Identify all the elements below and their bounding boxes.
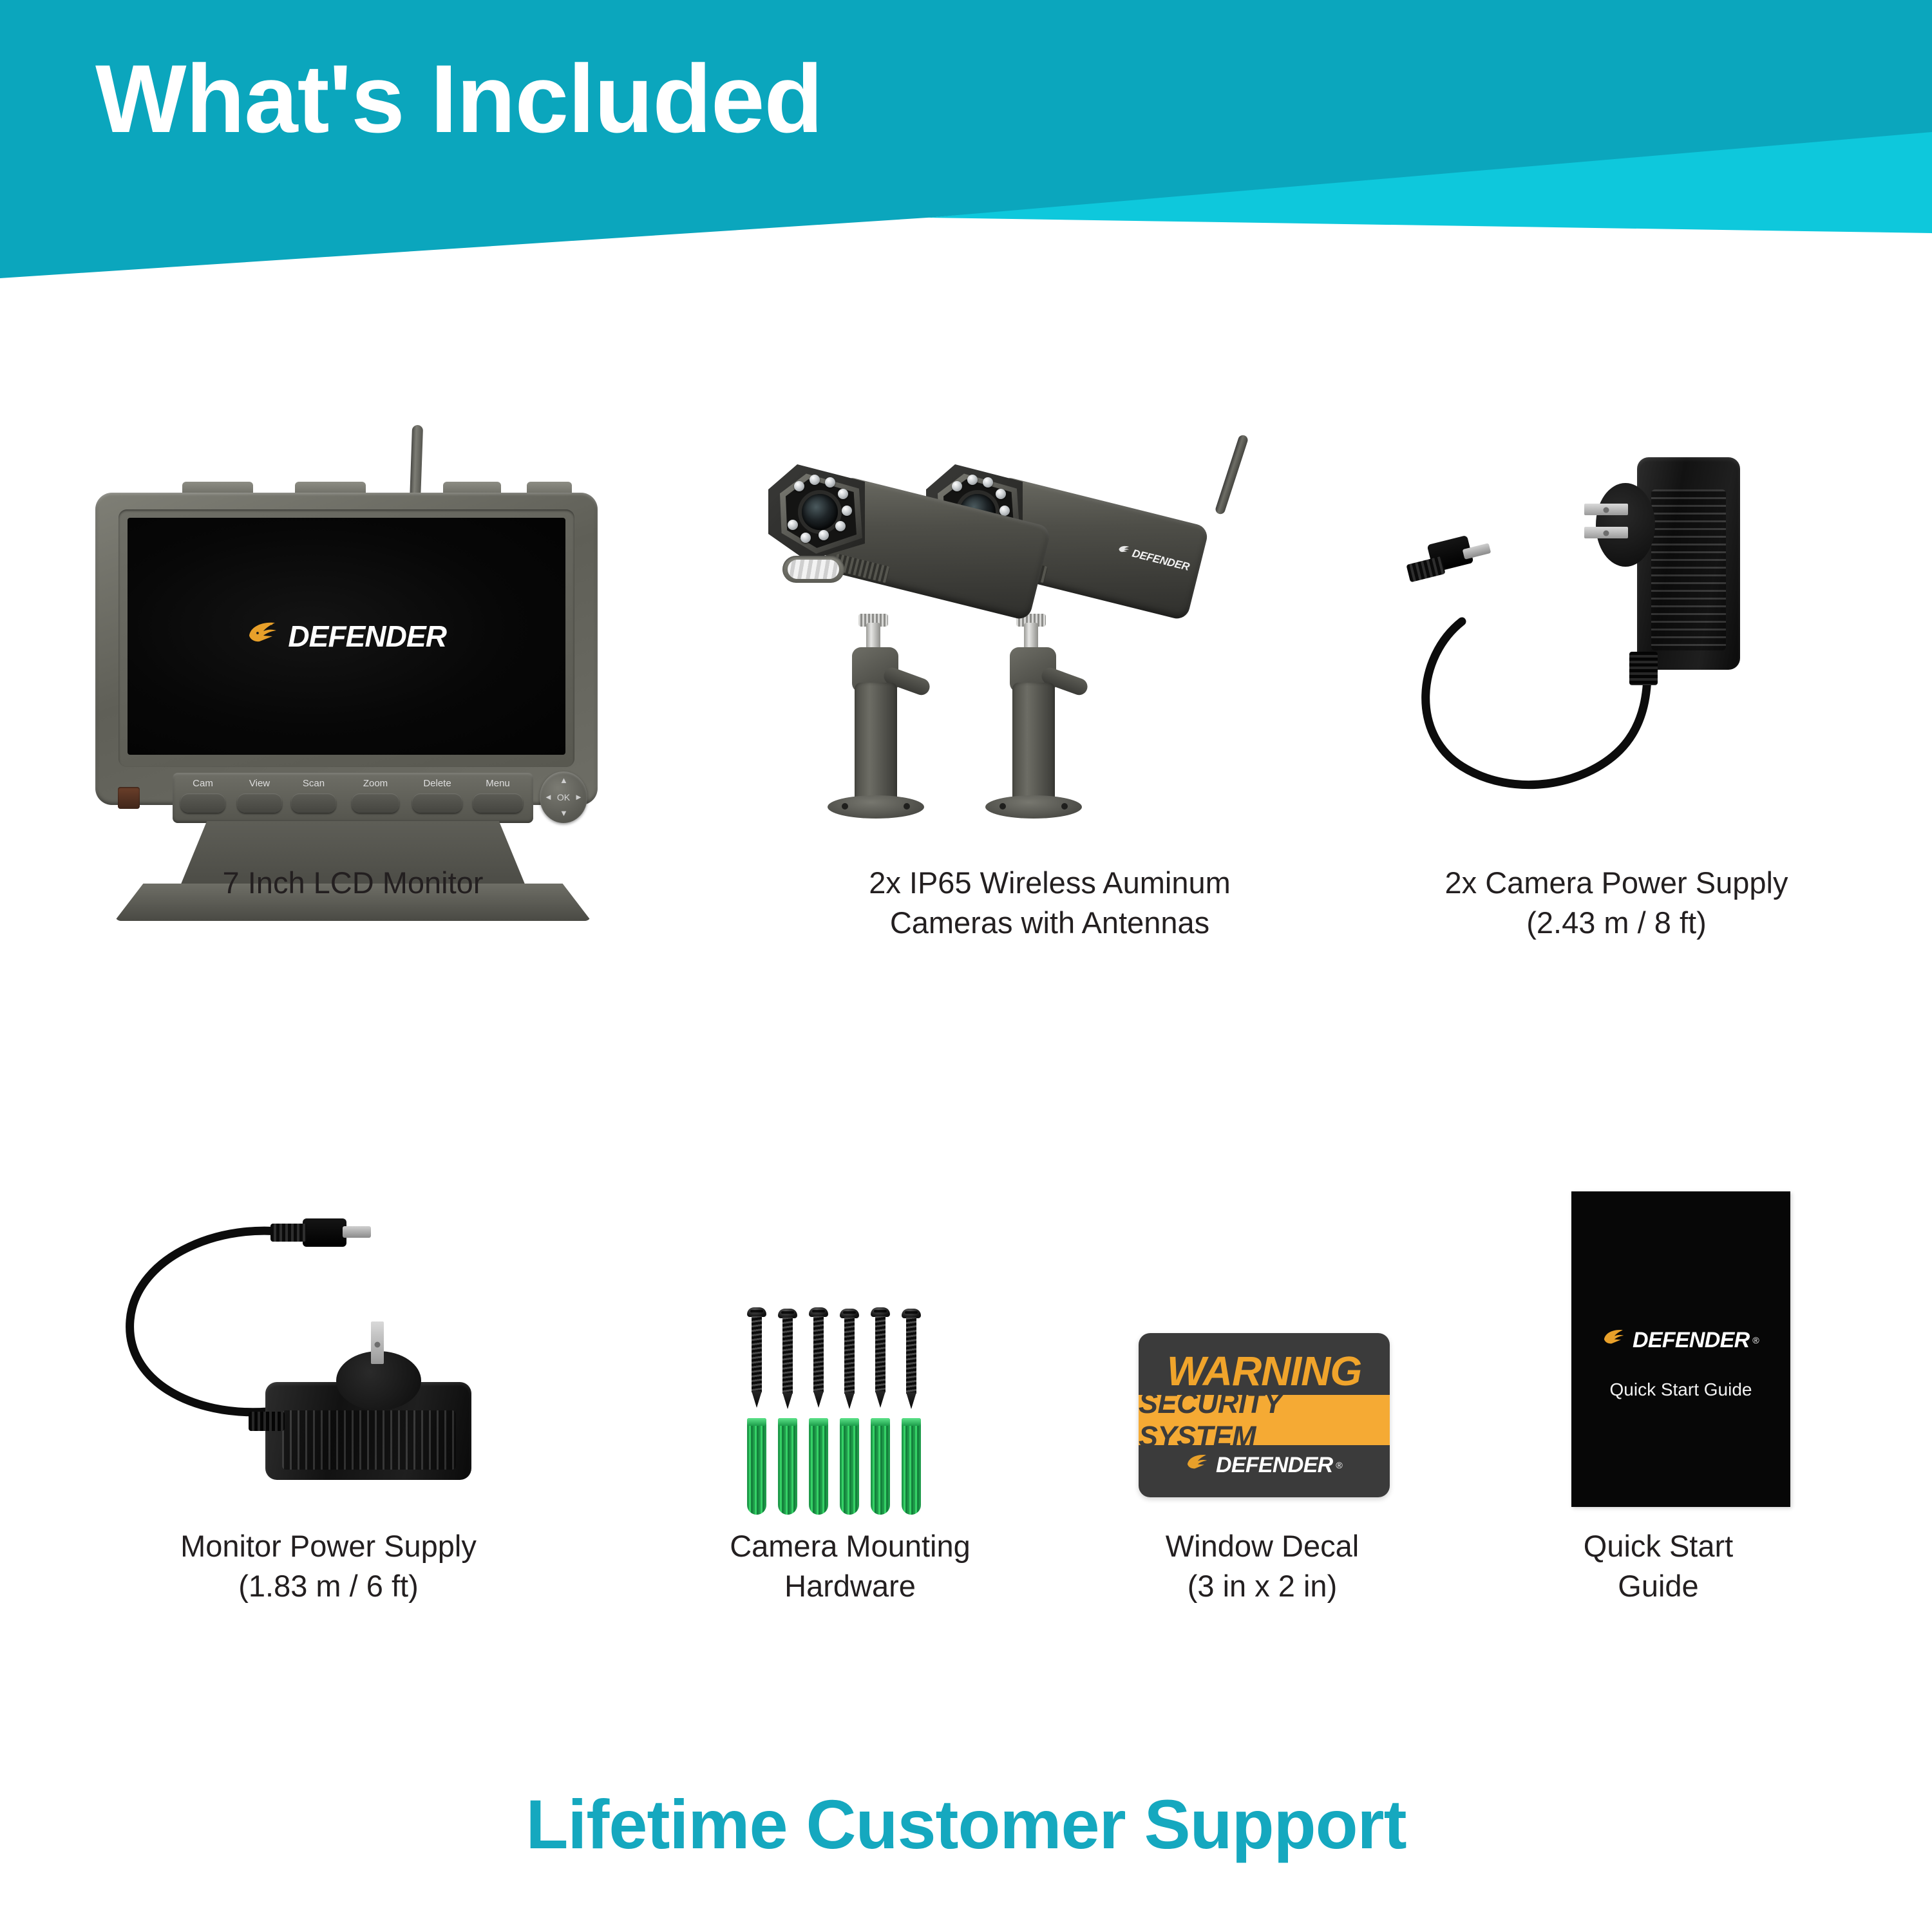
monitor-button-label-cam: Cam (178, 778, 228, 789)
qsg-title-text: Quick Start Guide (1571, 1379, 1790, 1400)
caption-line-1: 2x Camera Power Supply (1391, 863, 1842, 903)
lcd-monitor-graphic: DEFENDER DEFENDER ® (82, 425, 623, 934)
item-quick-start-guide: DEFENDER ® Quick Start Guide Quick Start… (1488, 1204, 1829, 1591)
caption-lcd-monitor: 7 Inch LCD Monitor (82, 863, 623, 903)
infographic-page: What's Included (0, 0, 1932, 1932)
caption-line-1: Camera Mounting (657, 1526, 1043, 1566)
caption-line-1: Window Decal (1095, 1526, 1430, 1566)
qsg-brand-row: DEFENDER ® (1571, 1328, 1790, 1353)
item-window-decal: WARNING SECURITY SYSTEM DEFENDER ® Windo… (1095, 1204, 1430, 1591)
plug-prong (1584, 504, 1628, 515)
chevron-right-icon[interactable]: ► (574, 793, 583, 801)
monitor-button-label-view: View (234, 778, 285, 789)
monitor-button-label-delete: Delete (410, 778, 465, 789)
eagle-icon (1116, 544, 1132, 559)
ir-led-icon (825, 477, 835, 488)
window-decal-graphic: WARNING SECURITY SYSTEM DEFENDER ® (1139, 1333, 1390, 1497)
header-banner: What's Included (0, 0, 1932, 303)
monitor-button-zoom[interactable] (352, 793, 399, 813)
wall-anchor-icon (778, 1418, 797, 1515)
camera-mount-arm (855, 683, 897, 805)
qsg-brand-text: DEFENDER (1633, 1328, 1750, 1353)
caption-quick-start-guide: Quick Start Guide (1488, 1526, 1829, 1606)
wall-anchor-icon (840, 1418, 859, 1515)
ir-led-icon (842, 506, 852, 516)
item-wireless-cameras: DEFENDER (728, 425, 1372, 934)
decal-brand-row: DEFENDER ® (1139, 1453, 1390, 1478)
decal-security-system-text: SECURITY SYSTEM (1139, 1387, 1390, 1454)
registered-mark: ® (1752, 1336, 1759, 1346)
item-camera-power-supply: 2x Camera Power Supply (2.43 m / 8 ft) (1391, 425, 1842, 934)
monitor-ok-button[interactable]: OK (557, 792, 570, 802)
item-lcd-monitor: DEFENDER DEFENDER ® (82, 425, 623, 934)
caption-line-2: (1.83 m / 6 ft) (116, 1566, 541, 1606)
caption-wireless-cameras: 2x IP65 Wireless Auminum Cameras with An… (728, 863, 1372, 943)
wall-anchor-icon (747, 1418, 766, 1515)
camera-mount-hole (842, 803, 848, 810)
monitor-button-label-scan: Scan (289, 778, 339, 789)
monitor-button-cam[interactable] (180, 793, 225, 813)
caption-line-2: Hardware (657, 1566, 1043, 1606)
monitor-bezel: DEFENDER (118, 509, 574, 767)
plug-prong (371, 1321, 384, 1364)
eagle-icon (247, 619, 284, 654)
caption-line-1: Quick Start (1488, 1526, 1829, 1566)
caption-window-decal: Window Decal (3 in x 2 in) (1095, 1526, 1430, 1606)
caption-line-2: (2.43 m / 8 ft) (1391, 903, 1842, 943)
monitor-power-supply-graphic (116, 1204, 541, 1494)
camera-mount-hole (904, 803, 910, 810)
caption-camera-power-supply: 2x Camera Power Supply (2.43 m / 8 ft) (1391, 863, 1842, 943)
monitor-button-view[interactable] (237, 793, 282, 813)
dc-connector-tip (343, 1226, 371, 1238)
caption-monitor-power-supply: Monitor Power Supply (1.83 m / 6 ft) (116, 1526, 541, 1606)
camera-mount-hole (999, 803, 1006, 810)
camera-power-supply-graphic (1391, 464, 1842, 824)
qsg-defender-logo: DEFENDER ® (1602, 1328, 1759, 1353)
camera-mount-arm (1012, 683, 1055, 805)
monitor-ir-sensor (118, 787, 140, 809)
ir-led-icon (819, 530, 829, 540)
monitor-button-scan[interactable] (291, 793, 336, 813)
ir-led-icon (983, 477, 993, 488)
dc-connector-grip (270, 1224, 307, 1242)
decal-accent-band: SECURITY SYSTEM (1139, 1395, 1390, 1445)
monitor-body: DEFENDER DEFENDER ® (95, 493, 598, 805)
monitor-control-bar: Cam View Scan Zoom Delete Menu (173, 773, 533, 823)
ir-led-icon (800, 533, 811, 543)
chevron-up-icon[interactable]: ▲ (560, 776, 568, 784)
item-monitor-power-supply: Monitor Power Supply (1.83 m / 6 ft) (116, 1204, 541, 1591)
caption-mounting-hardware: Camera Mounting Hardware (657, 1526, 1043, 1606)
caption-line-1: 2x IP65 Wireless Auminum (728, 863, 1372, 903)
ir-led-icon (952, 481, 962, 491)
ir-led-icon (838, 489, 848, 499)
camera-brand-logo: DEFENDER (1116, 544, 1191, 574)
monitor-button-label-zoom: Zoom (349, 778, 402, 789)
caption-line-1: 7 Inch LCD Monitor (82, 863, 623, 903)
caption-line-1: Monitor Power Supply (116, 1526, 541, 1566)
monitor-screen[interactable]: DEFENDER (128, 518, 565, 755)
power-adapter-strain-relief (249, 1412, 285, 1431)
decal-defender-logo: DEFENDER ® (1186, 1453, 1343, 1478)
plug-base (1596, 483, 1655, 567)
item-mounting-hardware: Camera Mounting Hardware (657, 1204, 1043, 1591)
wall-anchor-icon (809, 1418, 828, 1515)
power-adapter-ribs (282, 1410, 456, 1470)
power-adapter-strain-relief (1629, 652, 1658, 685)
registered-mark: ® (1336, 1461, 1343, 1471)
ir-led-icon (996, 489, 1006, 499)
footer-tagline: Lifetime Customer Support (0, 1784, 1932, 1864)
eagle-icon (1186, 1453, 1213, 1478)
monitor-button-label-menu: Menu (470, 778, 526, 789)
dc-connector-body (303, 1218, 346, 1247)
plug-prong (1584, 527, 1628, 538)
monitor-screen-defender-logo: DEFENDER (247, 619, 446, 654)
ir-led-icon (788, 520, 798, 530)
camera-antenna-icon (1215, 434, 1249, 515)
page-title: What's Included (95, 50, 822, 147)
monitor-screen-brand-text: DEFENDER (288, 619, 446, 654)
caption-line-2: Cameras with Antennas (728, 903, 1372, 943)
ir-led-icon (810, 475, 820, 485)
ir-led-icon (967, 475, 978, 485)
monitor-antenna-icon (410, 425, 423, 503)
camera-mount-hole (1061, 803, 1068, 810)
monitor-button-delete[interactable] (412, 793, 462, 813)
eagle-icon (1602, 1328, 1629, 1353)
wall-anchor-icon (902, 1418, 921, 1515)
wall-anchor-icon (871, 1418, 890, 1515)
camera-motion-sensor-window (782, 556, 844, 583)
ir-led-icon (794, 481, 804, 491)
monitor-navigation-pad[interactable]: ▲ ▼ ◄ ► OK (540, 772, 587, 823)
chevron-down-icon[interactable]: ▼ (560, 809, 568, 817)
caption-line-2: (3 in x 2 in) (1095, 1566, 1430, 1606)
chevron-left-icon[interactable]: ◄ (544, 793, 553, 801)
caption-line-2: Guide (1488, 1566, 1829, 1606)
decal-brand-text: DEFENDER (1216, 1453, 1333, 1478)
power-adapter-ribs (1651, 489, 1726, 650)
mounting-hardware-graphic (747, 1307, 960, 1520)
monitor-button-menu[interactable] (473, 793, 523, 813)
camera-brand-text: DEFENDER (1131, 547, 1191, 574)
quick-start-guide-graphic: DEFENDER ® Quick Start Guide (1571, 1191, 1790, 1507)
ir-led-icon (835, 521, 846, 531)
camera-lens (802, 494, 838, 530)
